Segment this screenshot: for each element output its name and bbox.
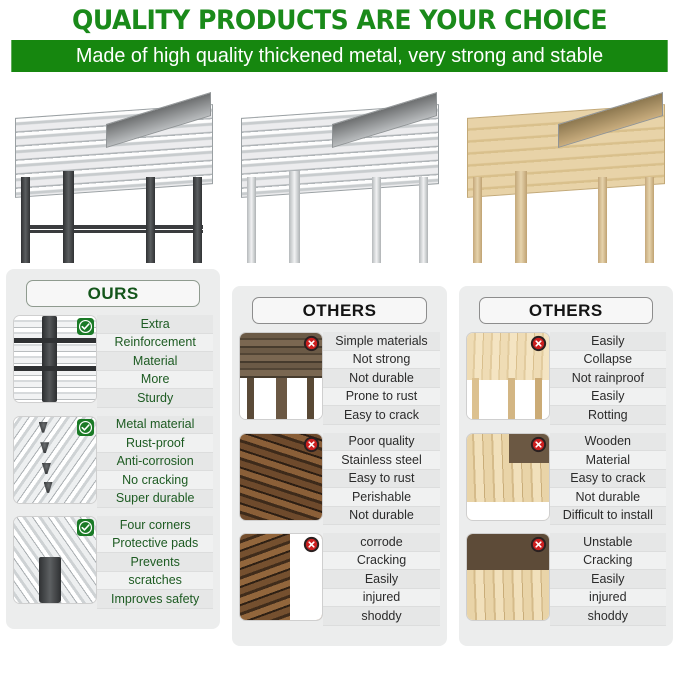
feature-rows: Simple materials Not strong Not durable … xyxy=(323,332,439,425)
feature-thumbnail-light-wood-panel xyxy=(466,332,550,420)
cross-badge-icon xyxy=(303,536,320,553)
feature-text: Easy to crack xyxy=(550,470,666,489)
feature-text: shoddy xyxy=(323,607,439,626)
cross-badge-icon xyxy=(303,335,320,352)
feature-text: Improves safety xyxy=(97,590,213,609)
column-others-metal: OTHERS Simp xyxy=(232,269,446,646)
check-badge-icon xyxy=(77,419,94,436)
feature-rows: Wooden Material Easy to crack Not durabl… xyxy=(550,433,666,526)
feature-text: Wooden xyxy=(550,433,666,452)
feature-rows: Metal material Rust-proof Anti-corrosion… xyxy=(97,416,213,509)
feature-text: Rotting xyxy=(550,406,666,425)
feature-text: Material xyxy=(97,352,213,371)
feature-text: Perishable xyxy=(323,488,439,507)
feature-rows: Poor quality Stainless steel Easy to rus… xyxy=(323,433,439,526)
column-ours: OURS Extra Reinforcement Material More xyxy=(6,269,220,646)
feature-text: Not durable xyxy=(550,488,666,507)
feature-text: Easily xyxy=(550,570,666,589)
page-title: QUALITY PRODUCTS ARE YOUR CHOICE xyxy=(24,3,655,37)
feature-thumbnail-rusted-bed xyxy=(239,433,323,521)
hero-product-3 xyxy=(453,78,679,263)
feature-text: Poor quality xyxy=(323,433,439,452)
feature-text: Cracking xyxy=(550,552,666,571)
feature-text: Easy to rust xyxy=(323,470,439,489)
feature-thumbnail-split-wood-corner xyxy=(466,533,550,621)
feature-text: Protective pads xyxy=(97,535,213,554)
feature-text: Metal material xyxy=(97,416,213,435)
panel-ours: OURS Extra Reinforcement Material More xyxy=(6,269,220,629)
feature-text: injured xyxy=(550,589,666,608)
feature-row: Poor quality Stainless steel Easy to rus… xyxy=(239,433,439,526)
feature-row: Simple materials Not strong Not durable … xyxy=(239,332,439,425)
feature-text: More xyxy=(97,371,213,390)
feature-thumbnail-reinforcement xyxy=(13,315,97,403)
feature-text: Reinforcement xyxy=(97,334,213,353)
feature-text: Unstable xyxy=(550,533,666,552)
feature-text: Not durable xyxy=(323,507,439,526)
cross-badge-icon xyxy=(530,335,547,352)
feature-rows: Unstable Cracking Easily injured shoddy xyxy=(550,533,666,626)
feature-text: No cracking xyxy=(97,471,213,490)
feature-text: Stainless steel xyxy=(323,451,439,470)
feature-text: Material xyxy=(550,451,666,470)
feature-row: corrode Cracking Easily injured shoddy xyxy=(239,533,439,626)
feature-thumbnail-rivets xyxy=(13,416,97,504)
feature-text: Simple materials xyxy=(323,332,439,351)
feature-text: Easily xyxy=(550,388,666,407)
feature-row: Extra Reinforcement Material More Sturdy xyxy=(13,315,213,408)
column-header-others-metal: OTHERS xyxy=(252,297,426,324)
feature-text: Prone to rust xyxy=(323,388,439,407)
check-badge-icon xyxy=(77,318,94,335)
product-image-galvanized-dark-legs xyxy=(11,95,216,263)
feature-text: scratches xyxy=(97,572,213,591)
feature-row: Four corners Protective pads Prevents sc… xyxy=(13,516,213,609)
column-header-ours: OURS xyxy=(26,280,200,307)
feature-text: Difficult to install xyxy=(550,507,666,526)
panel-others-metal: OTHERS Simp xyxy=(232,286,446,646)
feature-thumbnail-corner-pad xyxy=(13,516,97,604)
feature-thumbnail-dark-wood-frame xyxy=(239,332,323,420)
feature-text: Collapse xyxy=(550,351,666,370)
feature-text: Rust-proof xyxy=(97,434,213,453)
feature-text: Not rainproof xyxy=(550,369,666,388)
cross-badge-icon xyxy=(530,536,547,553)
cross-badge-icon xyxy=(303,436,320,453)
feature-rows: Extra Reinforcement Material More Sturdy xyxy=(97,315,213,408)
feature-text: corrode xyxy=(323,533,439,552)
feature-rows: Four corners Protective pads Prevents sc… xyxy=(97,516,213,609)
hero-product-2 xyxy=(226,78,452,263)
comparison-columns: OURS Extra Reinforcement Material More xyxy=(0,269,679,646)
product-image-wooden-bed xyxy=(463,95,668,263)
feature-text: injured xyxy=(323,589,439,608)
feature-text: Not strong xyxy=(323,351,439,370)
column-others-wood: OTHERS Easi xyxy=(459,269,673,646)
feature-thumbnail-corroded-corner xyxy=(239,533,323,621)
panel-others-wood: OTHERS Easi xyxy=(459,286,673,646)
feature-text: Cracking xyxy=(323,552,439,571)
column-header-others-wood: OTHERS xyxy=(479,297,653,324)
feature-text: Prevents xyxy=(97,553,213,572)
feature-text: shoddy xyxy=(550,607,666,626)
check-badge-icon xyxy=(77,519,94,536)
feature-text: Easy to crack xyxy=(323,406,439,425)
feature-text: Four corners xyxy=(97,516,213,535)
feature-text: Anti-corrosion xyxy=(97,453,213,472)
hero-product-1 xyxy=(0,78,226,263)
feature-row: Easily Collapse Not rainproof Easily Rot… xyxy=(466,332,666,425)
product-image-galvanized-silver-legs xyxy=(237,95,442,263)
feature-row: Unstable Cracking Easily injured shoddy xyxy=(466,533,666,626)
feature-text: Extra xyxy=(97,315,213,334)
page-subtitle-banner: Made of high quality thickened metal, ve… xyxy=(11,40,667,72)
feature-row: Wooden Material Easy to crack Not durabl… xyxy=(466,433,666,526)
feature-thumbnail-cracked-wood-box xyxy=(466,433,550,521)
feature-text: Super durable xyxy=(97,490,213,509)
feature-text: Easily xyxy=(323,570,439,589)
feature-text: Sturdy xyxy=(97,389,213,408)
feature-row: Metal material Rust-proof Anti-corrosion… xyxy=(13,416,213,509)
feature-rows: Easily Collapse Not rainproof Easily Rot… xyxy=(550,332,666,425)
hero-product-row xyxy=(0,78,679,263)
cross-badge-icon xyxy=(530,436,547,453)
feature-text: Easily xyxy=(550,332,666,351)
feature-rows: corrode Cracking Easily injured shoddy xyxy=(323,533,439,626)
feature-text: Not durable xyxy=(323,369,439,388)
